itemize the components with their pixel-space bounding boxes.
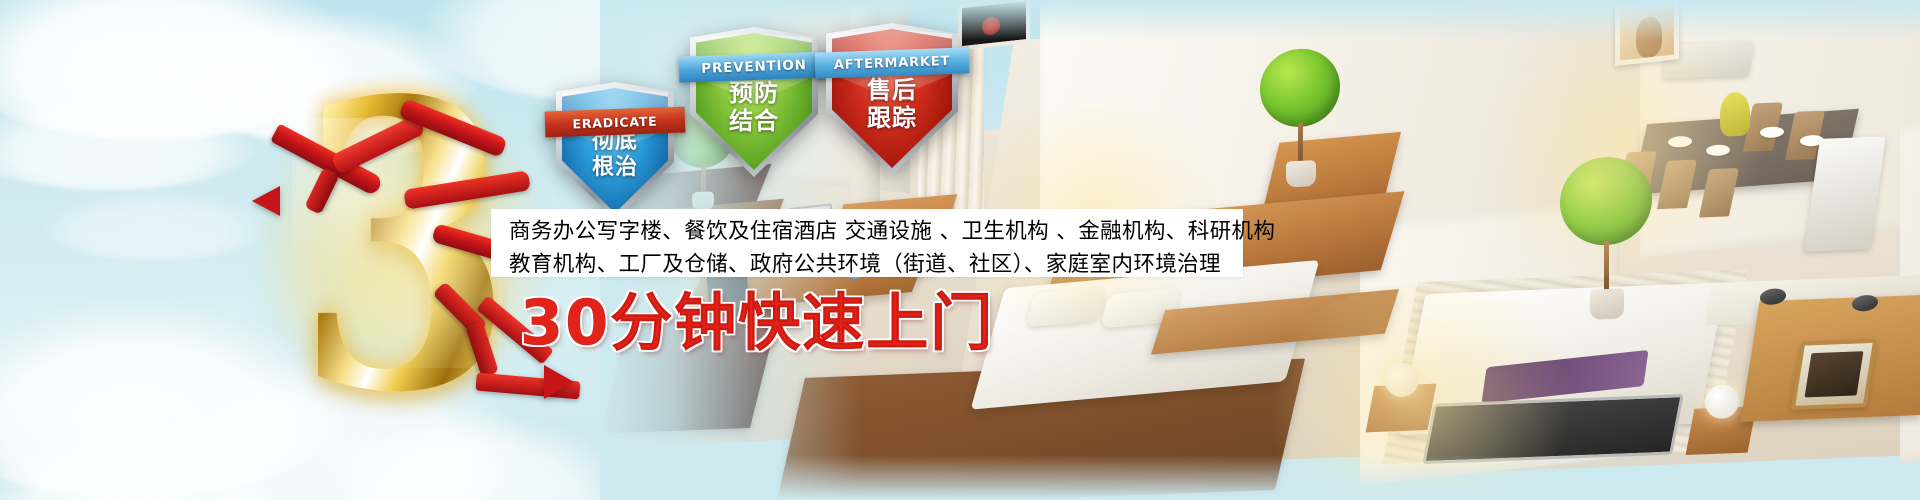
shield-cn-text: 预防 结合 — [690, 79, 818, 135]
badge-shield-eradicate: 彻底 根治 ERADICATE — [556, 82, 674, 220]
plant-pot — [1590, 288, 1624, 319]
shield-cn-line2: 结合 — [690, 107, 818, 135]
shield-cn-text: 售后 跟踪 — [826, 76, 958, 132]
service-scope-line-2: 教育机构、工厂及仓储、政府公共环境（街道、社区）、家庭室内环境治理 — [509, 248, 1227, 281]
shield-sash-label: AFTERMARKET — [815, 47, 970, 78]
oven — [1791, 339, 1878, 410]
service-scope-panel: 商务办公写字楼、餐饮及住宿酒店 交通设施 、卫生机构 、金融机构、科研机构 教育… — [491, 209, 1243, 277]
headboard — [1422, 394, 1684, 464]
plant-trunk — [1604, 241, 1609, 293]
shield-sash-label: PREVENTION — [679, 51, 830, 82]
shield-cn-line1: 售后 — [826, 76, 958, 104]
headline-text: 30分钟快速上门 — [520, 288, 994, 358]
plant-pot — [1286, 160, 1316, 187]
promo-banner: 3 彻底 根治 ERADICATE 预防 结合 — [0, 0, 1920, 500]
shield-sash-label: ERADICATE — [545, 107, 686, 138]
shield-cn-line2: 根治 — [556, 155, 674, 181]
shield-cn-line1: 预防 — [690, 79, 818, 107]
plant-trunk — [1298, 123, 1303, 165]
shield-cn-text: 彻底 根治 — [556, 129, 674, 181]
badge-shield-prevention: 预防 结合 PREVENTION — [690, 27, 818, 177]
wall-tv — [958, 0, 1030, 51]
shield-cn-line2: 跟踪 — [826, 104, 958, 132]
framed-artwork — [1615, 0, 1679, 66]
table-centerpiece — [1720, 92, 1750, 137]
cloud-shape — [40, 190, 270, 260]
service-scope-line-1: 商务办公写字楼、餐饮及住宿酒店 交通设施 、卫生机构 、金融机构、科研机构 — [509, 215, 1227, 248]
badge-shield-aftermarket: 售后 跟踪 AFTERMARKET — [826, 23, 958, 175]
